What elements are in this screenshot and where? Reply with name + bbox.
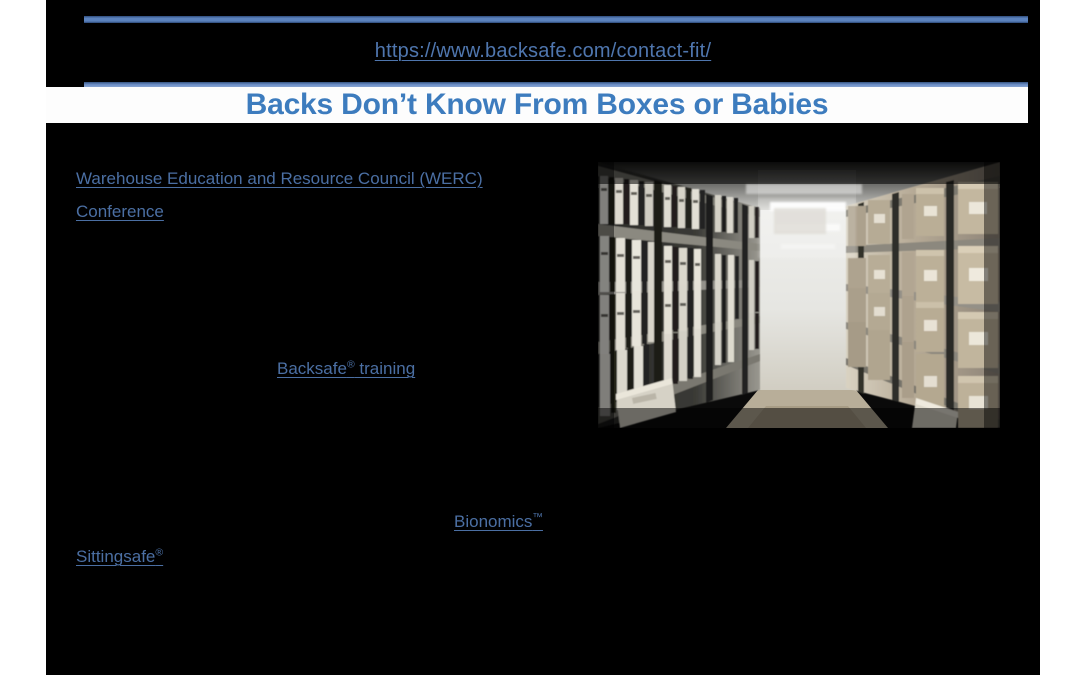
- url-line: https://www.backsafe.com/contact-fit/: [46, 40, 1040, 63]
- link-werc-conference[interactable]: Warehouse Education and Resource Council…: [76, 162, 546, 228]
- backsafe-label: Backsafe: [277, 359, 347, 378]
- warehouse-aisle-photo: [598, 162, 1000, 428]
- link-bionomics[interactable]: Bionomics™: [454, 505, 543, 538]
- registered-trademark-symbol: ®: [347, 358, 355, 370]
- slide-page: https://www.backsafe.com/contact-fit/ Ba…: [0, 0, 1080, 675]
- title-band: Backs Don’t Know From Boxes or Babies: [46, 87, 1028, 123]
- slide-canvas: https://www.backsafe.com/contact-fit/ Ba…: [46, 0, 1040, 675]
- backsafe-suffix: training: [355, 359, 415, 378]
- sittingsafe-label: Sittingsafe: [76, 547, 155, 566]
- trademark-symbol: ™: [532, 511, 543, 523]
- slide-title: Backs Don’t Know From Boxes or Babies: [246, 90, 829, 120]
- top-accent-rule: [84, 16, 1028, 23]
- registered-trademark-symbol: ®: [155, 546, 163, 558]
- link-backsafe-training[interactable]: Backsafe® training: [277, 352, 415, 385]
- warehouse-aisle-illustration: [598, 162, 1000, 428]
- link-sittingsafe[interactable]: Sittingsafe®: [76, 540, 163, 573]
- bionomics-label: Bionomics: [454, 512, 532, 531]
- contact-url-link[interactable]: https://www.backsafe.com/contact-fit/: [375, 40, 711, 63]
